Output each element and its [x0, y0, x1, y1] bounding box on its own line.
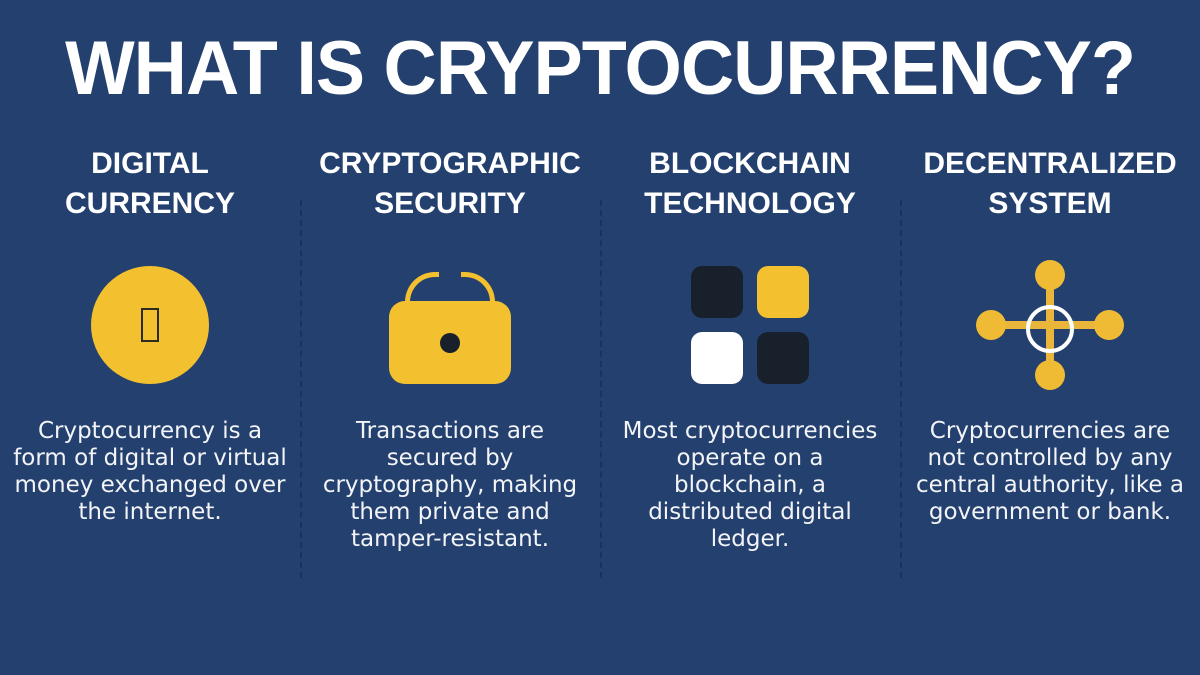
column-body-text: Transactions are secured by cryptography…	[308, 418, 592, 553]
block-bottom-left	[691, 332, 743, 384]
padlock-icon	[389, 266, 511, 384]
column-body-text: Cryptocurrencies are not controlled by a…	[908, 418, 1192, 526]
column-cryptographic-security: CRYPTOGRAPHIC SECURITY Transactions are …	[300, 140, 600, 610]
icon-container	[600, 255, 900, 395]
column-digital-currency: DIGITAL CURRENCY Cryptocurrency is a for…	[0, 140, 300, 610]
column-heading: BLOCKCHAIN TECHNOLOGY	[586, 144, 914, 224]
column-heading: CRYPTOGRAPHIC SECURITY	[286, 144, 614, 224]
padlock-keyhole	[440, 333, 460, 353]
block-top-left	[691, 266, 743, 318]
icon-container	[300, 255, 600, 395]
network-icon	[976, 260, 1124, 390]
infographic-slide: WHAT IS CRYPTOCURRENCY? DIGITAL CURRENCY…	[0, 0, 1200, 675]
column-heading: DIGITAL CURRENCY	[0, 144, 314, 224]
column-divider-3	[900, 200, 902, 578]
column-body-text: Cryptocurrency is a form of digital or v…	[8, 418, 292, 526]
network-node-west	[976, 310, 1006, 340]
icon-container	[0, 255, 300, 395]
bitcoin-symbol-glyph	[141, 308, 159, 342]
network-node-north	[1035, 260, 1065, 290]
icon-container	[900, 255, 1200, 395]
column-heading: DECENTRALIZED SYSTEM	[886, 144, 1200, 224]
page-title: WHAT IS CRYPTOCURRENCY?	[18, 26, 1182, 112]
block-top-right	[757, 266, 809, 318]
column-blockchain-technology: BLOCKCHAIN TECHNOLOGY Most cryptocurrenc…	[600, 140, 900, 610]
network-node-east	[1094, 310, 1124, 340]
column-decentralized-system: DECENTRALIZED SYSTEM Cryptocurrencies ar…	[900, 140, 1200, 610]
column-body-text: Most cryptocurrencies operate on a block…	[608, 418, 892, 553]
network-node-south	[1035, 360, 1065, 390]
column-divider-1	[300, 200, 302, 578]
coin-icon	[91, 266, 209, 384]
column-divider-2	[600, 200, 602, 578]
blocks-icon	[691, 266, 809, 384]
block-bottom-right	[757, 332, 809, 384]
network-center-ring	[1026, 305, 1074, 353]
